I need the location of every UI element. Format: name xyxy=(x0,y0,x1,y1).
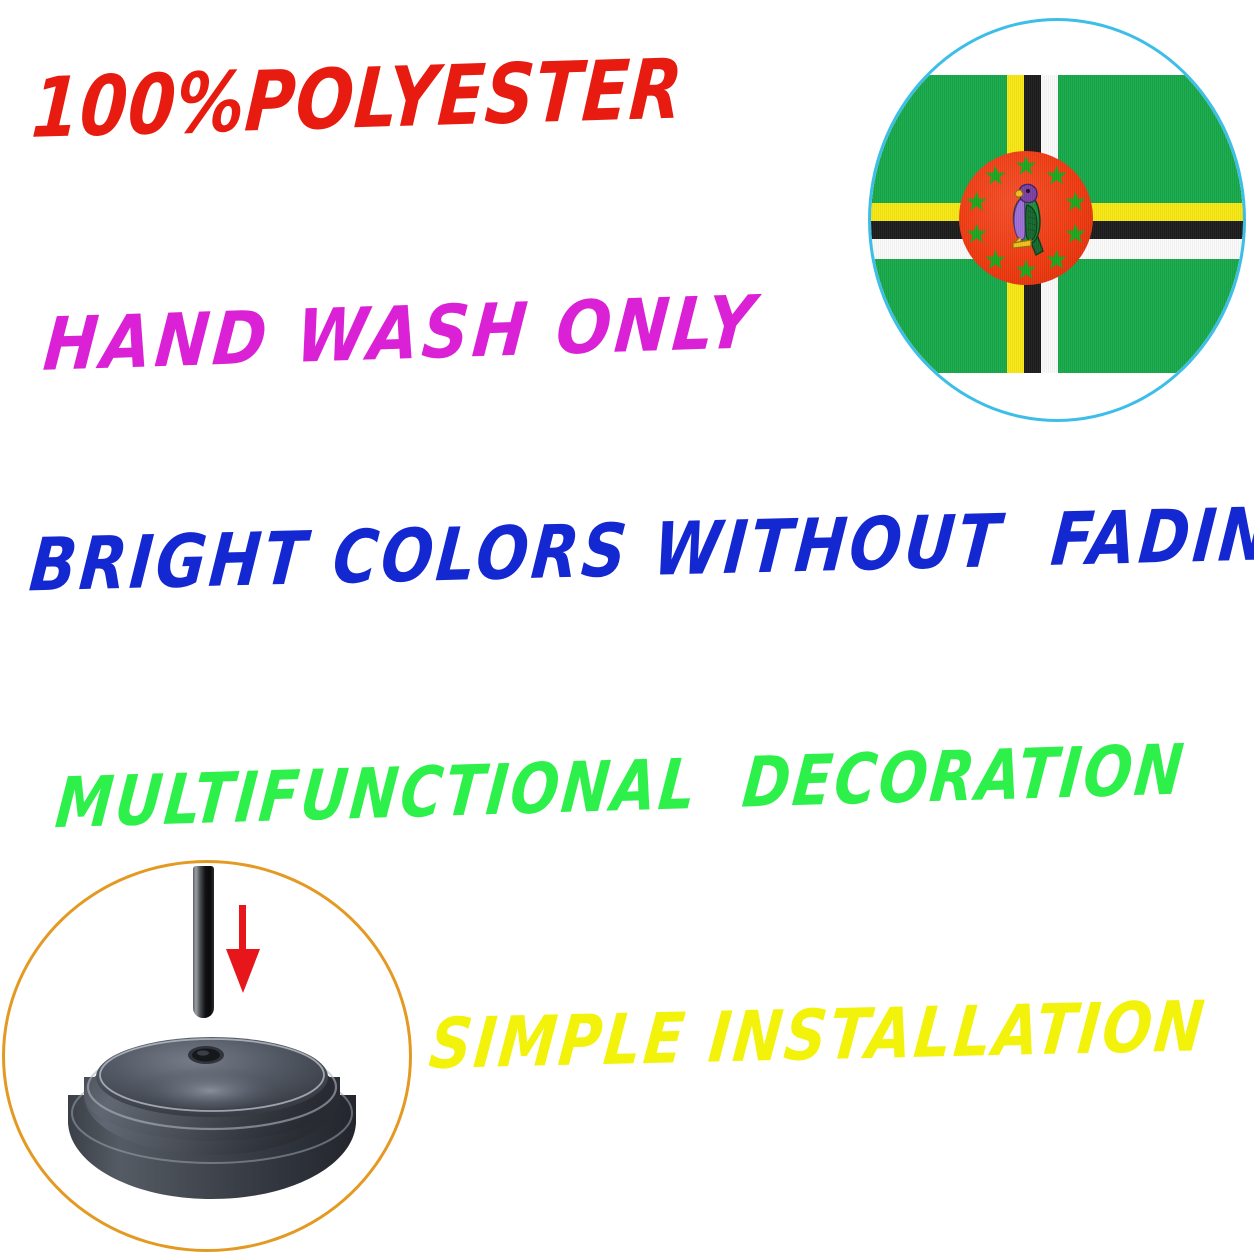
feature-caption-bright-colors: BRIGHT COLORS WITHOUT FADING xyxy=(27,497,1254,603)
flag-base-stand xyxy=(60,1003,362,1203)
flag-star xyxy=(1065,224,1086,245)
flag-star xyxy=(966,224,987,245)
flag-photo-circle xyxy=(868,18,1246,422)
flag-star xyxy=(1016,260,1037,281)
flag-photo-clip xyxy=(871,21,1243,419)
infographic-canvas: 100%POLYESTER HAND WASH ONLY BRIGHT COLO… xyxy=(0,0,1254,1255)
flag-star xyxy=(966,191,987,212)
sisserou-parrot-emblem xyxy=(1003,177,1051,261)
down-arrow-icon xyxy=(226,905,260,993)
feature-caption-multifunctional: MULTIFUNCTIONAL DECORATION xyxy=(53,736,1189,839)
feature-caption-polyester: 100%POLYESTER xyxy=(29,49,685,151)
flag-red-disc xyxy=(959,151,1093,285)
feature-caption-simple-installation: SIMPLE INSTALLATION xyxy=(426,991,1209,1078)
dominica-flag-image xyxy=(871,75,1243,373)
flag-pole-rod xyxy=(193,866,214,1018)
flag-star xyxy=(1016,156,1037,177)
feature-caption-hand-wash: HAND WASH ONLY xyxy=(41,286,761,382)
flag-star xyxy=(1065,191,1086,212)
